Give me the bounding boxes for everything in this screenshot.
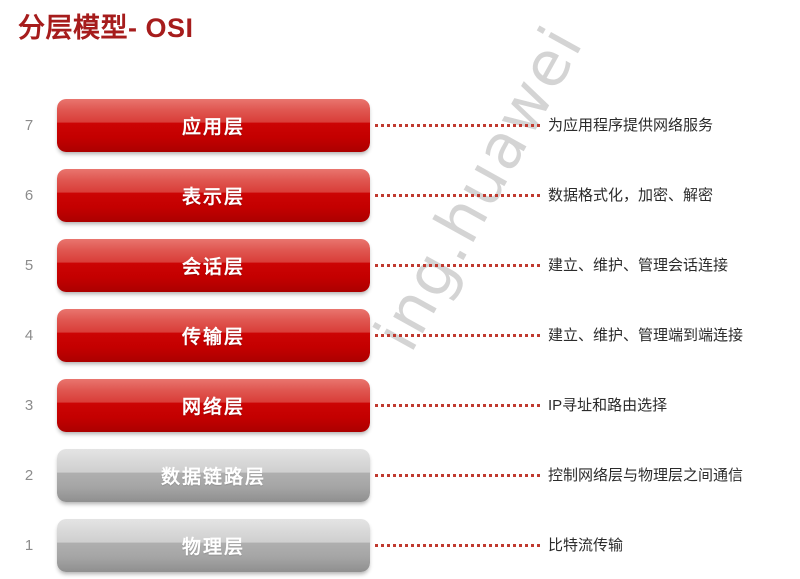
layer-description: IP寻址和路由选择 — [548, 379, 667, 432]
layer-description: 数据格式化，加密、解密 — [548, 169, 713, 222]
layer-description: 为应用程序提供网络服务 — [548, 99, 713, 152]
layer-number: 5 — [18, 239, 40, 292]
dotted-connector-line — [375, 194, 541, 197]
layer-bar[interactable]: 表示层 — [57, 169, 370, 222]
page-title: 分层模型- OSI — [18, 6, 194, 45]
layer-name-label: 物理层 — [57, 519, 370, 572]
layer-name-label: 数据链路层 — [57, 449, 370, 502]
layer-name-label: 表示层 — [57, 169, 370, 222]
dotted-connector-line — [375, 544, 541, 547]
layer-bar[interactable]: 数据链路层 — [57, 449, 370, 502]
layer-number: 4 — [18, 309, 40, 362]
osi-layer-row: 3网络层IP寻址和路由选择 — [0, 379, 800, 432]
osi-layer-row: 2数据链路层控制网络层与物理层之间通信 — [0, 449, 800, 502]
dotted-connector-line — [375, 264, 541, 267]
osi-layer-list: 7应用层为应用程序提供网络服务6表示层数据格式化，加密、解密5会话层建立、维护、… — [0, 99, 800, 579]
layer-number: 1 — [18, 519, 40, 572]
layer-name-label: 会话层 — [57, 239, 370, 292]
layer-name-label: 应用层 — [57, 99, 370, 152]
dotted-connector-line — [375, 404, 541, 407]
layer-bar[interactable]: 应用层 — [57, 99, 370, 152]
layer-number: 6 — [18, 169, 40, 222]
osi-layer-row: 5会话层建立、维护、管理会话连接 — [0, 239, 800, 292]
dotted-connector-line — [375, 474, 541, 477]
layer-number: 2 — [18, 449, 40, 502]
dotted-connector-line — [375, 334, 541, 337]
osi-layer-row: 4传输层建立、维护、管理端到端连接 — [0, 309, 800, 362]
layer-number: 3 — [18, 379, 40, 432]
layer-description: 控制网络层与物理层之间通信 — [548, 449, 743, 502]
layer-description: 建立、维护、管理端到端连接 — [548, 309, 743, 362]
osi-layer-row: 7应用层为应用程序提供网络服务 — [0, 99, 800, 152]
layer-description: 比特流传输 — [548, 519, 623, 572]
slide-canvas: ing.huawei 分层模型- OSI 7应用层为应用程序提供网络服务6表示层… — [0, 0, 800, 579]
layer-bar[interactable]: 会话层 — [57, 239, 370, 292]
layer-bar[interactable]: 传输层 — [57, 309, 370, 362]
layer-description: 建立、维护、管理会话连接 — [548, 239, 728, 292]
layer-bar[interactable]: 物理层 — [57, 519, 370, 572]
layer-number: 7 — [18, 99, 40, 152]
layer-name-label: 传输层 — [57, 309, 370, 362]
layer-bar[interactable]: 网络层 — [57, 379, 370, 432]
layer-name-label: 网络层 — [57, 379, 370, 432]
osi-layer-row: 1物理层比特流传输 — [0, 519, 800, 572]
dotted-connector-line — [375, 124, 541, 127]
osi-layer-row: 6表示层数据格式化，加密、解密 — [0, 169, 800, 222]
